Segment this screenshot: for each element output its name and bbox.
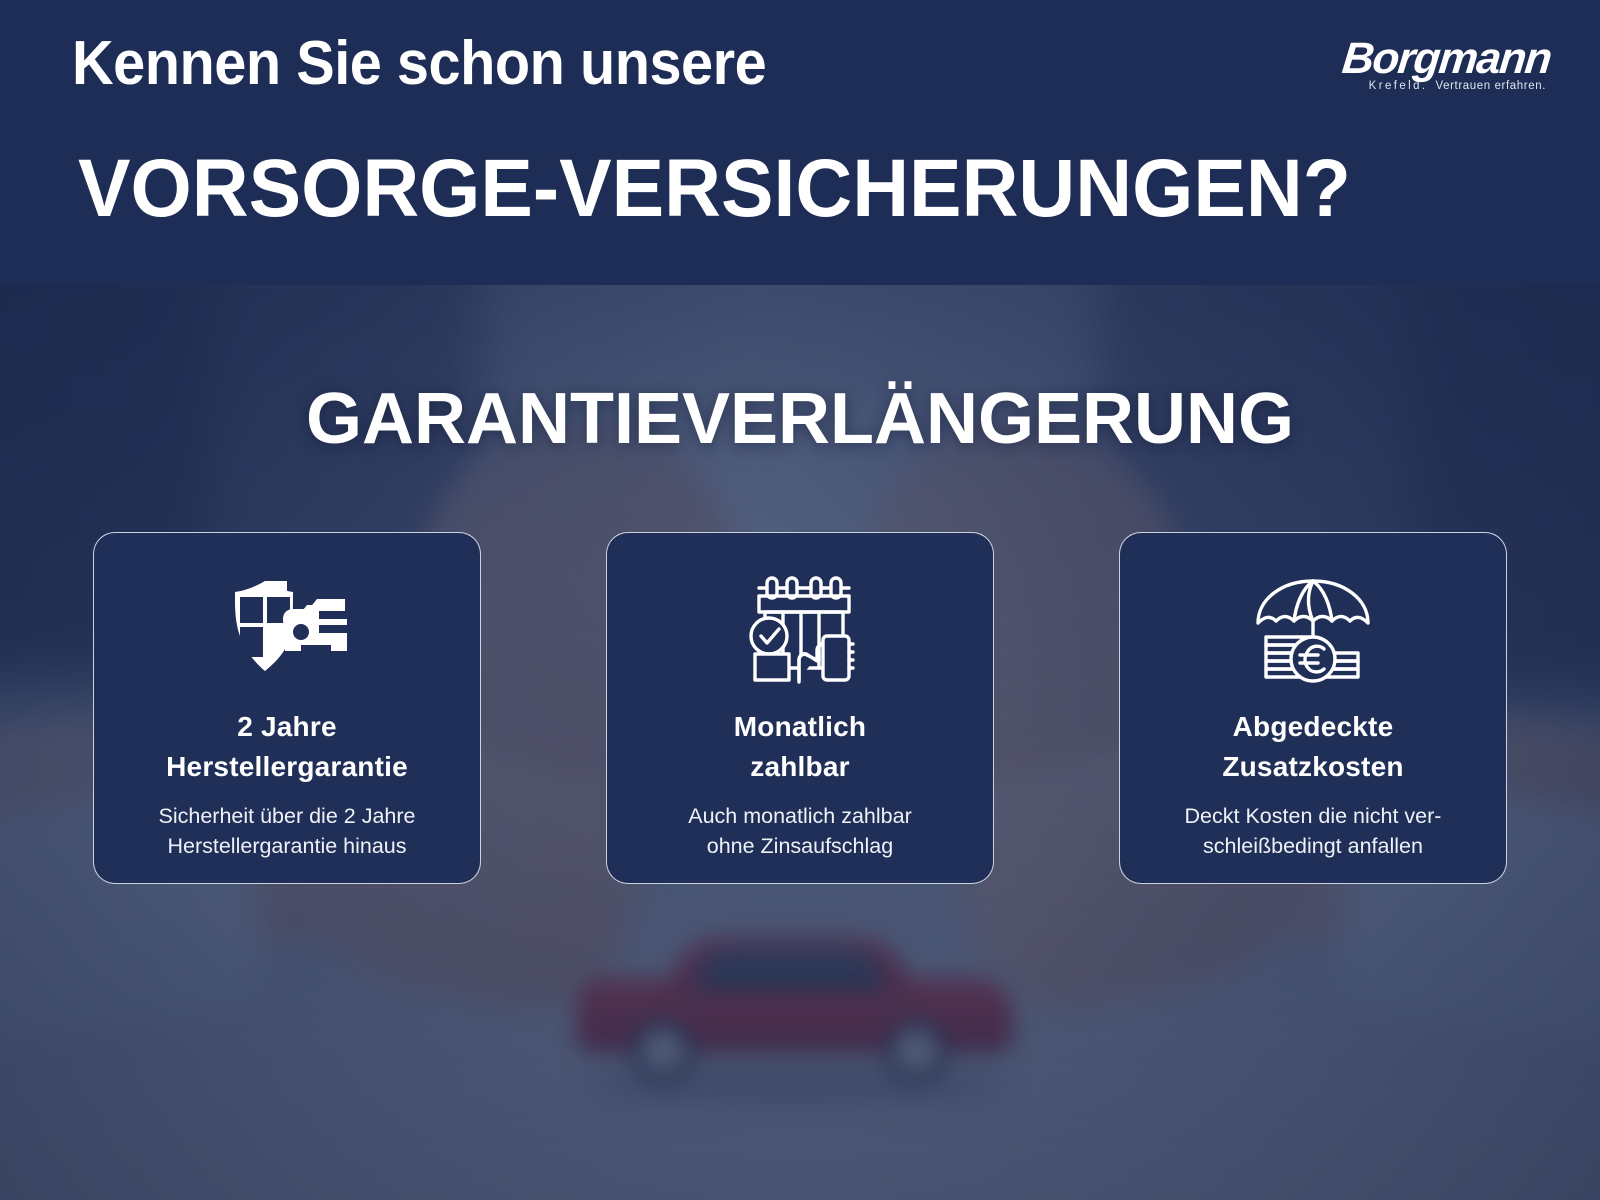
shield-car-icon [227,571,347,691]
borgmann-logo[interactable]: Borgmann Krefeld. Vertrauen erfahren. [1316,36,1548,110]
feature-card-extra-costs[interactable]: Abgedeckte Zusatzkosten Deckt Kosten die… [1119,532,1507,884]
feature-card-description: Auch monatlich zahlbar ohne Zinsaufschla… [688,801,911,861]
header-headline-line2: VORSORGE-VERSICHERUNGEN? [78,142,1351,236]
main-title: GARANTIEVERLÄNGERUNG [0,378,1600,460]
feature-card-title: Abgedeckte Zusatzkosten [1222,707,1403,787]
feature-card-description: Deckt Kosten die nicht ver- schleißbedin… [1185,801,1442,861]
umbrella-euro-coins-icon [1252,571,1374,691]
feature-card-description: Sicherheit über die 2 Jahre Herstellerga… [159,801,416,861]
header-headline-line1: Kennen Sie schon unsere [72,28,766,99]
feature-card-monthly-payment[interactable]: Monatlich zahlbar Auch monatlich zahlbar… [606,532,994,884]
calendar-payment-icon [741,571,859,691]
feature-card-title: Monatlich zahlbar [734,707,866,787]
feature-card-warranty[interactable]: 2 Jahre Herstellergarantie Sicherheit üb… [93,532,481,884]
feature-card-title: 2 Jahre Herstellergarantie [166,707,408,787]
feature-card-list: 2 Jahre Herstellergarantie Sicherheit üb… [0,532,1600,884]
promo-banner: Kennen Sie schon unsere VORSORGE-VERSICH… [0,0,1600,1200]
logo-wordmark: Borgmann [1316,36,1553,82]
header-band: Kennen Sie schon unsere VORSORGE-VERSICH… [0,0,1600,285]
